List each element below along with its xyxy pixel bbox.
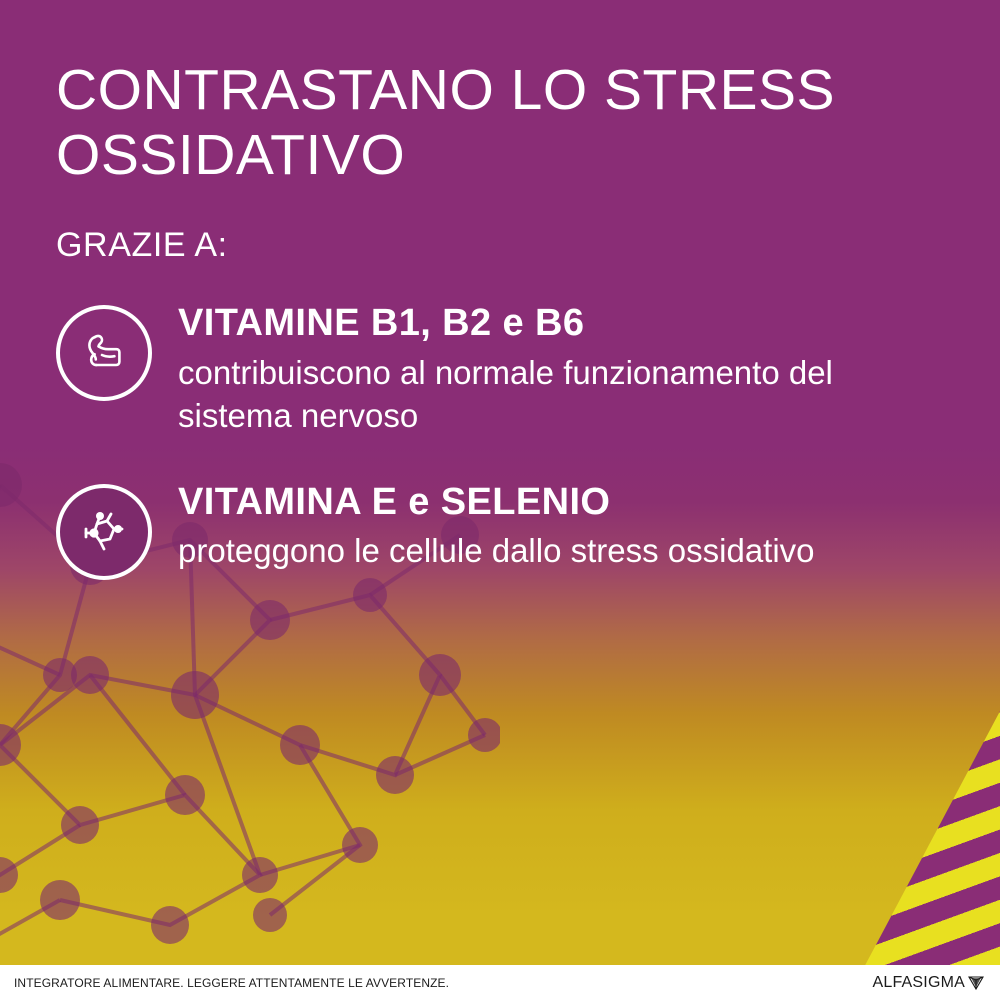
flexed-bicep-icon [76, 325, 132, 381]
footer-bar: INTEGRATORE ALIMENTARE. LEGGERE ATTENTAM… [0, 965, 1000, 1000]
subhead-label: GRAZIE A: [56, 226, 944, 265]
benefit-icon-badge [56, 305, 152, 401]
triangle-prism-icon [966, 973, 986, 993]
brand-logo: ALFASIGMA [873, 973, 987, 993]
molecule-icon [76, 504, 132, 560]
benefit-list: VITAMINE B1, B2 e B6 contribuiscono al n… [56, 299, 944, 580]
benefit-icon-badge [56, 484, 152, 580]
benefit-title: VITAMINA E e SELENIO [178, 480, 815, 525]
benefit-description: contribuiscono al normale funzionamento … [178, 352, 944, 438]
promo-poster: CONTRASTANO LO STRESS OSSIDATIVO GRAZIE … [0, 0, 1000, 1000]
poster-content: CONTRASTANO LO STRESS OSSIDATIVO GRAZIE … [0, 0, 1000, 1000]
list-item: VITAMINE B1, B2 e B6 contribuiscono al n… [56, 299, 944, 438]
benefit-description: proteggono le cellule dallo stress ossid… [178, 530, 815, 573]
benefit-text-block: VITAMINE B1, B2 e B6 contribuiscono al n… [178, 299, 944, 438]
benefit-title: VITAMINE B1, B2 e B6 [178, 301, 944, 346]
brand-name: ALFASIGMA [873, 974, 966, 992]
list-item: VITAMINA E e SELENIO proteggono le cellu… [56, 478, 944, 580]
benefit-text-block: VITAMINA E e SELENIO proteggono le cellu… [178, 478, 815, 574]
legal-disclaimer: INTEGRATORE ALIMENTARE. LEGGERE ATTENTAM… [14, 976, 449, 990]
page-title: CONTRASTANO LO STRESS OSSIDATIVO [56, 58, 886, 188]
